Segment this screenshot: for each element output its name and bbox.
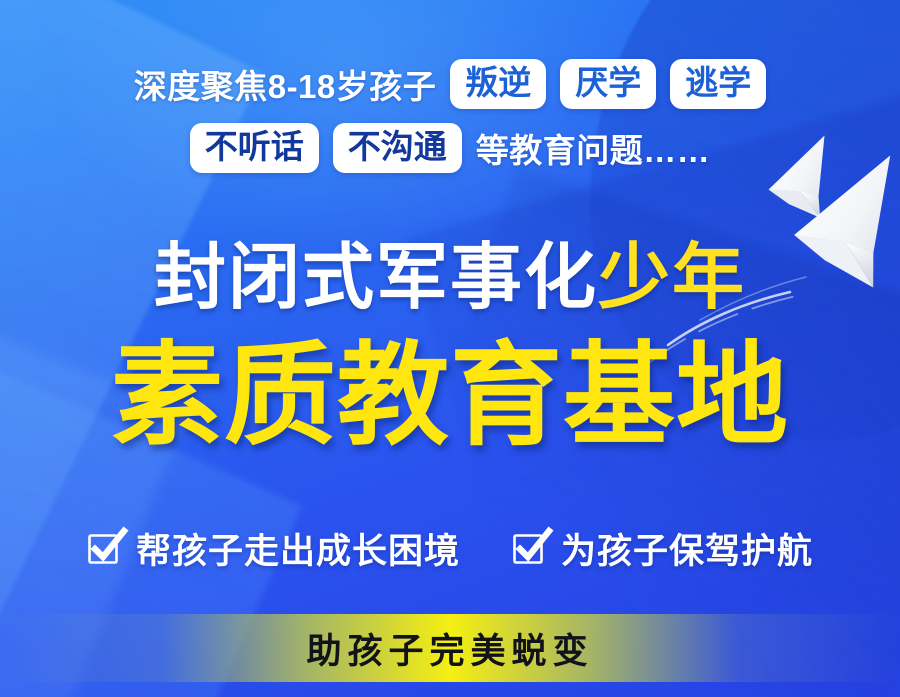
tag-school-aversion: 厌学: [560, 59, 656, 109]
headline-line-2: 素质教育基地: [0, 340, 900, 452]
promo-banner: 深度聚焦8-18岁孩子 叛逆 厌学 逃学 不听话 不沟通 等教育问题…… 封闭式…: [0, 0, 900, 697]
benefit-item-1: 帮孩子走出成长困境: [87, 523, 460, 574]
check-square-icon: [87, 530, 123, 566]
tagline-trailing-text: 等教育问题……: [476, 124, 711, 172]
ribbon-label: 助孩子完美蜕变: [306, 623, 593, 674]
tagline-lead-text: 深度聚焦8-18岁孩子: [134, 60, 437, 108]
check-square-icon: [512, 530, 548, 566]
tagline-row-1: 深度聚焦8-18岁孩子 叛逆 厌学 逃学: [0, 58, 900, 110]
tag-no-communication: 不沟通: [333, 123, 462, 173]
benefit-label-2: 为孩子保驾护航: [561, 523, 813, 574]
benefit-list: 帮孩子走出成长困境 为孩子保驾护航: [0, 518, 900, 578]
tag-rebellious: 叛逆: [450, 59, 546, 109]
headline-line-1-white: 封闭式军事化: [154, 238, 598, 318]
headline-line-1-yellow: 少年: [598, 238, 746, 318]
tag-truancy: 逃学: [670, 59, 766, 109]
benefit-item-2: 为孩子保驾护航: [512, 523, 813, 574]
bottom-ribbon: 助孩子完美蜕变: [0, 614, 900, 682]
tag-disobedient: 不听话: [190, 123, 319, 173]
headline-line-1: 封闭式军事化少年: [0, 242, 900, 314]
tagline-row-2: 不听话 不沟通 等教育问题……: [0, 122, 900, 174]
benefit-label-1: 帮孩子走出成长困境: [136, 523, 460, 574]
